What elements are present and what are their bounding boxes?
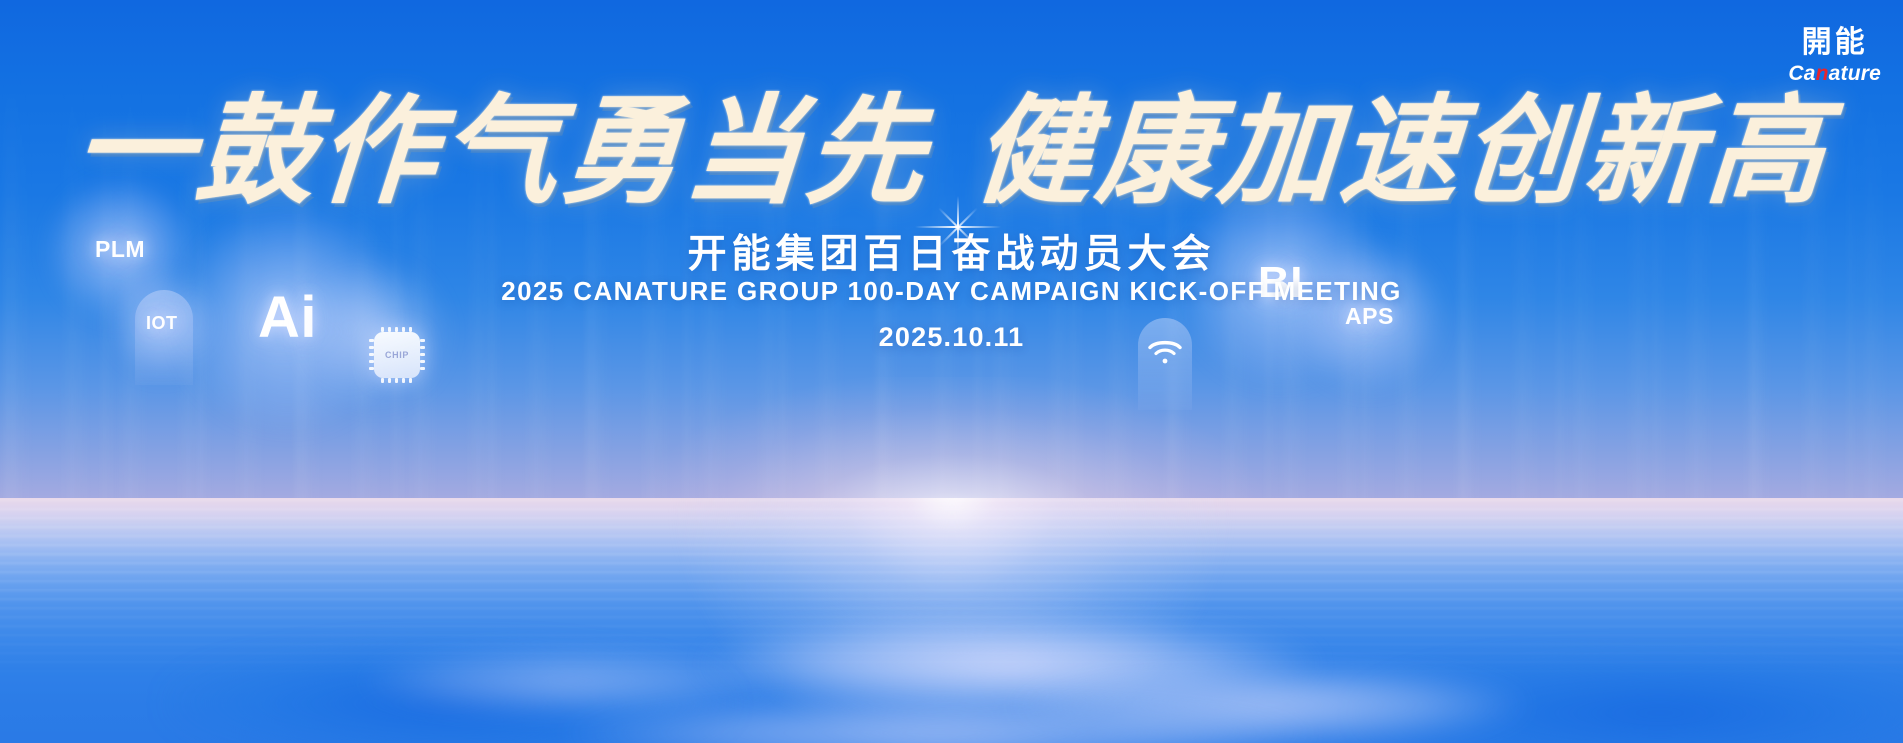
brand-logo-latin-accent: n [1816,62,1829,85]
water-ripples [0,498,1903,743]
brand-logo-latin-pre: Ca [1788,62,1815,85]
brand-logo-latin-post: ature [1829,62,1881,85]
chip-pins-bottom [374,378,420,383]
subtitle-chinese: 开能集团百日奋战动员大会 [0,223,1903,279]
headline-part-2: 健康加速创新高 [970,81,1834,220]
brand-logo-chinese: 開能 [1788,28,1881,58]
brand-logo: 開能 Canature [1788,28,1881,84]
subtitle-english: 2025 CANATURE GROUP 100-DAY CAMPAIGN KIC… [0,276,1903,307]
water-surface [0,498,1903,743]
headline-part-1: 一鼓作气勇当先 [70,81,934,220]
headline-slogan: 一鼓作气勇当先健康加速创新高 [0,92,1903,210]
event-date: 2025.10.11 [0,322,1903,353]
event-banner: PLM IOT Ai CHIP [0,0,1903,743]
brand-logo-latin: Canature [1788,63,1881,84]
